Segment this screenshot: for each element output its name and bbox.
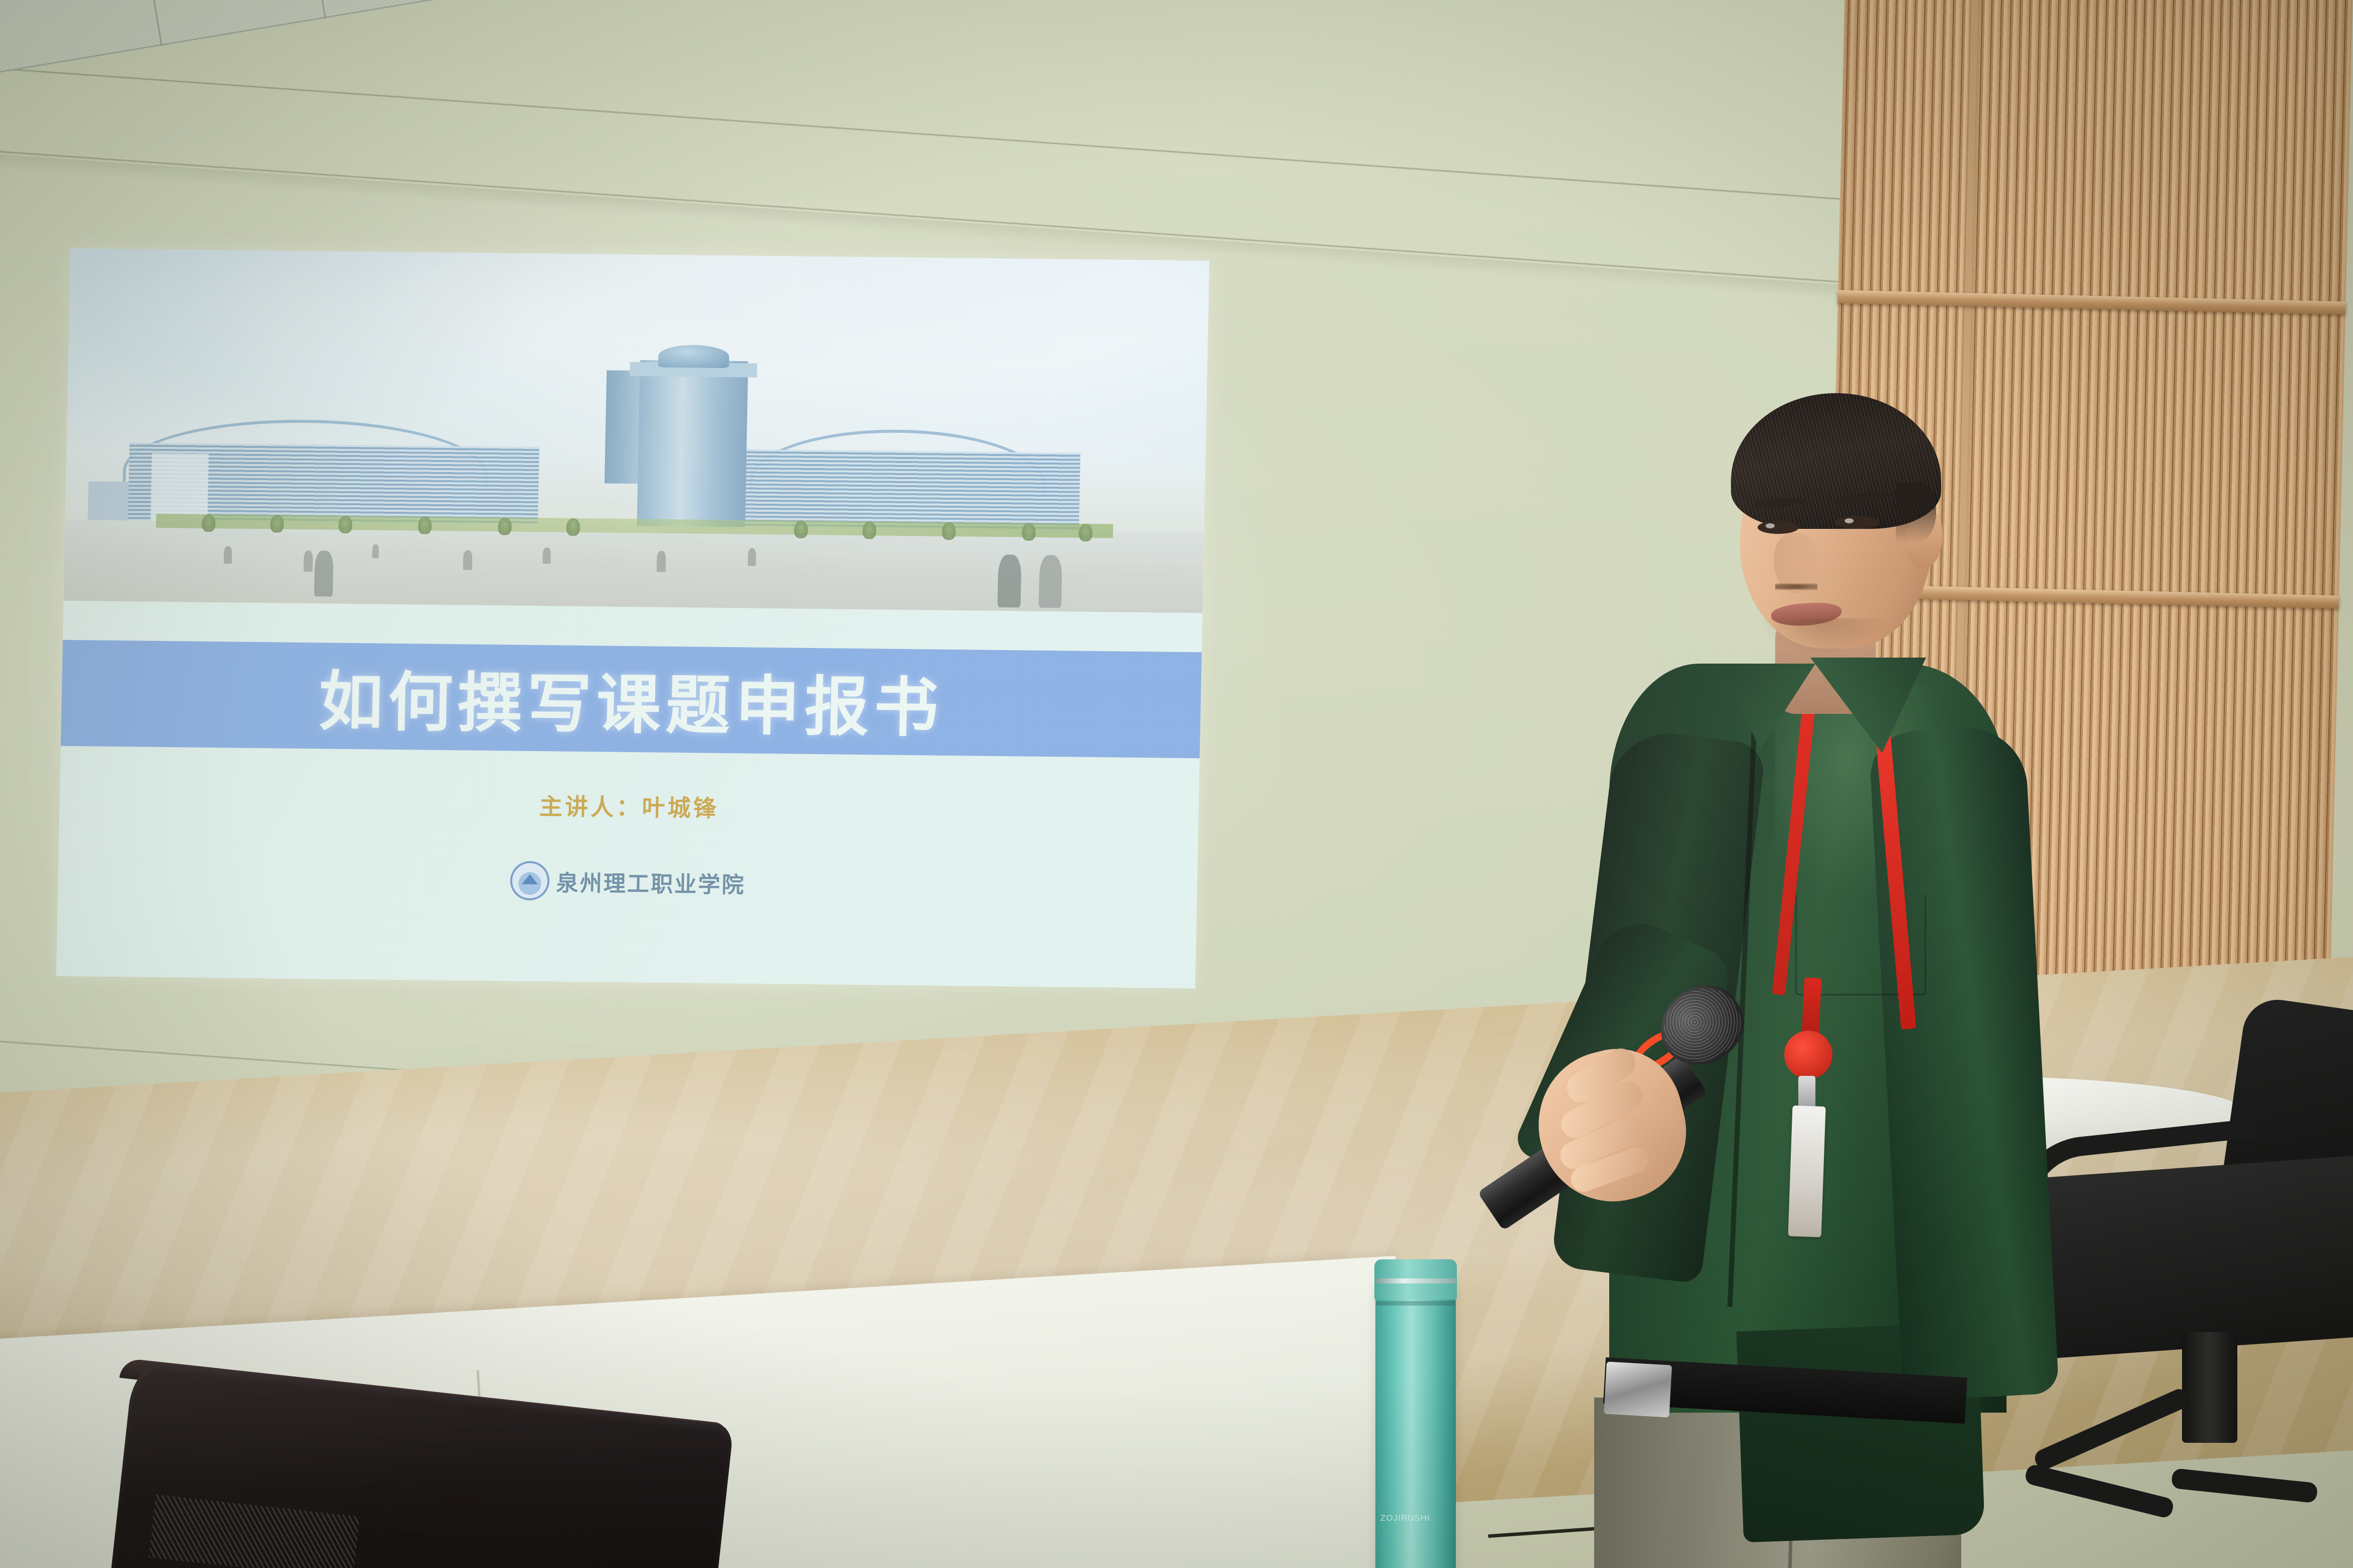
- tower-dome: [658, 344, 729, 368]
- presenter: [1574, 382, 2067, 1568]
- teal-vacuum-flask[interactable]: [1375, 1279, 1456, 1568]
- slide-subtitle: 主讲人：叶城锋: [59, 783, 1199, 828]
- eye-right: [1836, 516, 1880, 529]
- flask-seam: [1376, 1301, 1455, 1306]
- slide-title: 如何撰写课题申报书: [61, 638, 1202, 760]
- campus-rendering-photo: [63, 248, 1209, 613]
- projected-slide: 如何撰写课题申报书 主讲人：叶城锋 泉州理工职业学院: [56, 248, 1209, 988]
- flask-metal-ring: [1375, 1278, 1456, 1283]
- sideburn: [1896, 483, 1936, 543]
- chin-shadow: [1760, 618, 1886, 654]
- nostrils: [1775, 582, 1817, 591]
- institution-logo-row: 泉州理工职业学院: [58, 856, 1197, 907]
- badge-reel-icon: [1784, 1031, 1833, 1079]
- presentation-room-scene: 如何撰写课题申报书 主讲人：叶城锋 泉州理工职业学院 ZOJIRUSHI: [0, 0, 2353, 1568]
- school-seal-icon: [509, 861, 550, 901]
- flask-brand-label: ZOJIRUSHI: [1380, 1513, 1456, 1523]
- eye-left: [1758, 521, 1799, 534]
- wood-panel-seam: [1838, 290, 2345, 315]
- institution-name: 泉州理工职业学院: [556, 865, 745, 899]
- id-badge: [1788, 1105, 1825, 1237]
- belt-buckle: [1604, 1361, 1672, 1417]
